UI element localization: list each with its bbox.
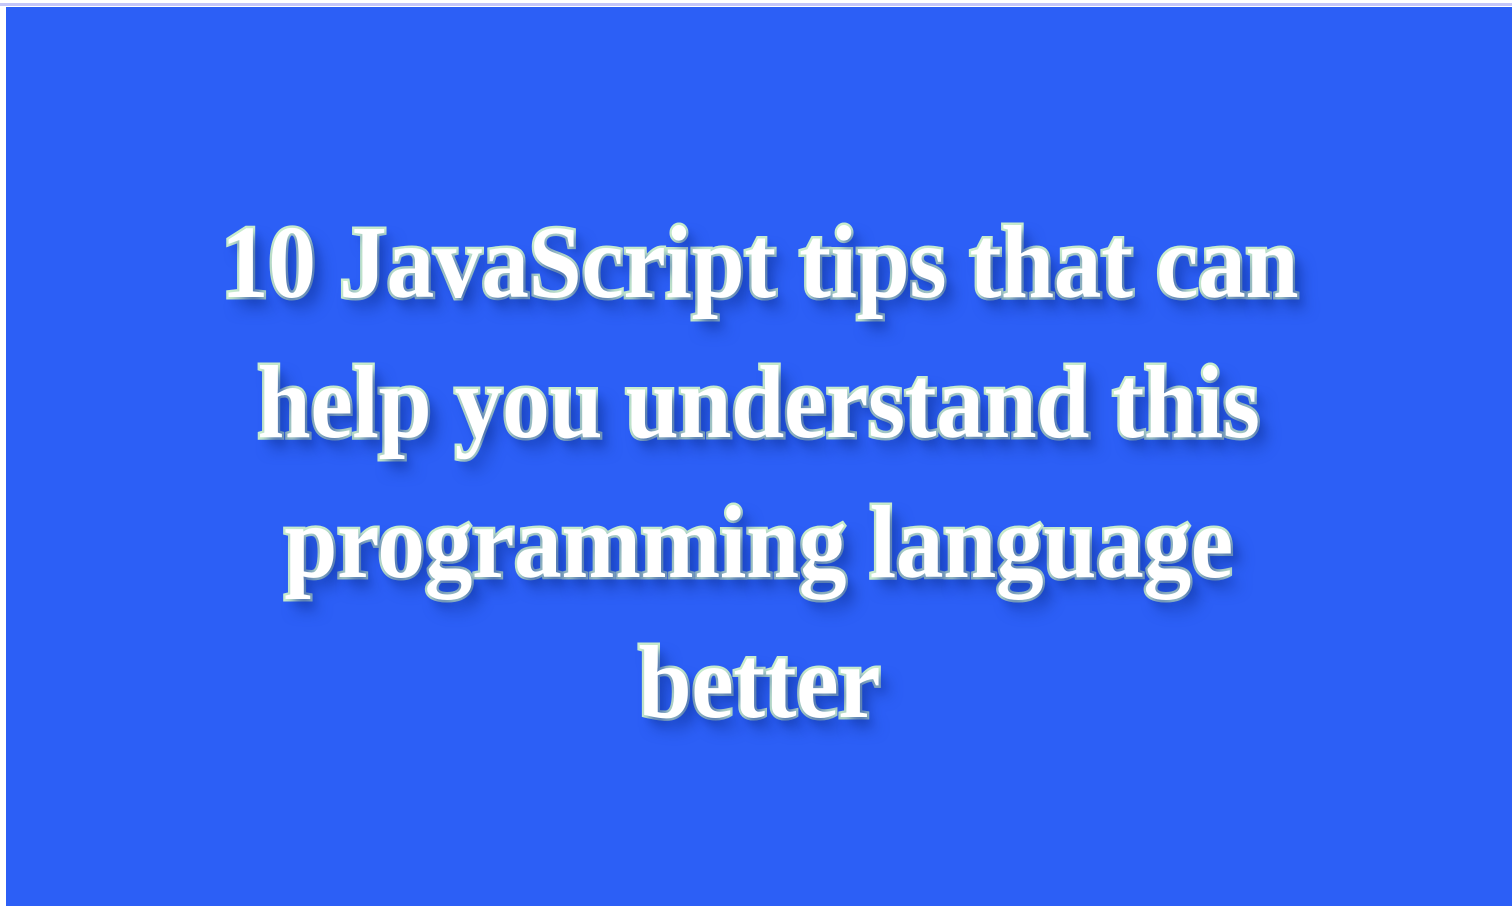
slide-title-line-4: better (638, 613, 880, 753)
top-divider-rule (0, 3, 1512, 6)
slide-title-block: 10 JavaScript tips that can help you und… (6, 7, 1512, 906)
slide-title-line-3: programming language (285, 473, 1234, 613)
slide-canvas: 10 JavaScript tips that can help you und… (0, 0, 1512, 906)
slide-title-line-1: 10 JavaScript tips that can (220, 193, 1297, 333)
presentation-slide: 10 JavaScript tips that can help you und… (6, 7, 1512, 906)
slide-title-line-2: help you understand this (258, 333, 1260, 473)
